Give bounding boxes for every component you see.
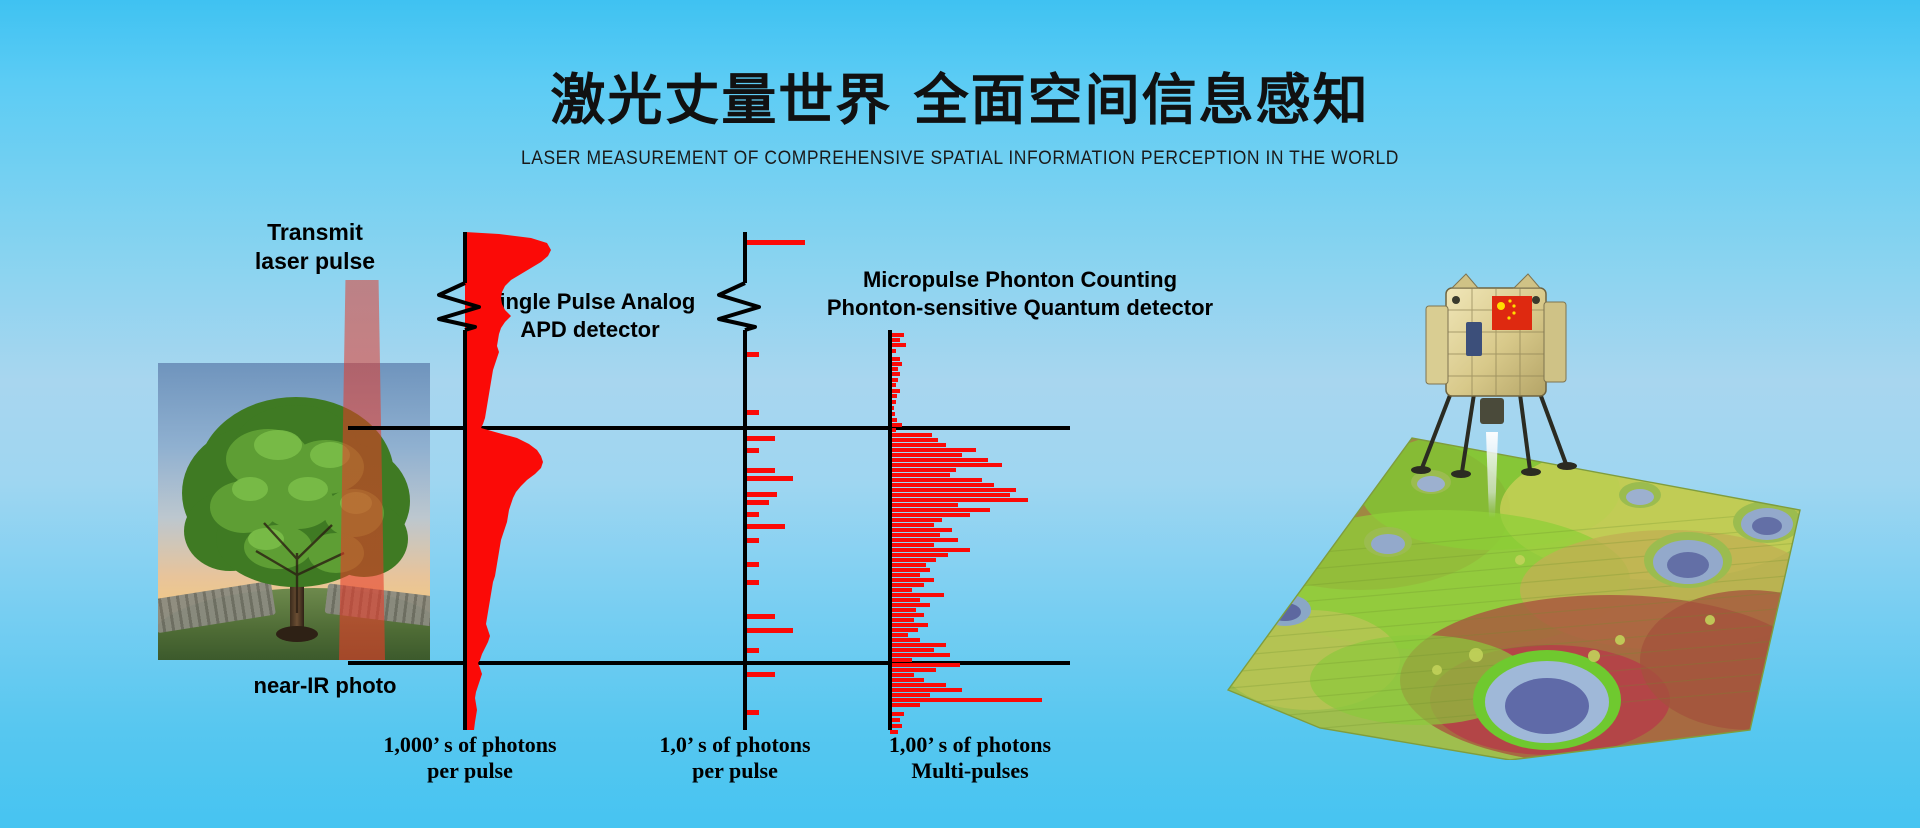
- photon-bar: [745, 562, 759, 567]
- photon-bar: [890, 638, 920, 642]
- photon-bar: [890, 443, 946, 447]
- chinese-flag-icon: [1492, 296, 1532, 330]
- lander-panel-left: [1426, 306, 1448, 384]
- poster-canvas: 激光丈量世界 全面空间信息感知 LASER MEASUREMENT OF COM…: [0, 0, 1920, 828]
- photon-bar: [890, 333, 904, 337]
- photon-bar: [890, 698, 1042, 702]
- photon-bar: [890, 603, 930, 607]
- photon-bar: [890, 493, 1010, 497]
- crater: [1473, 650, 1621, 750]
- photon-bar: [890, 703, 920, 707]
- photon-bar: [890, 653, 950, 657]
- photon-bar: [890, 628, 918, 632]
- panel3-photon-bars: [890, 333, 1042, 734]
- photon-bar: [890, 663, 960, 667]
- photon-bar: [890, 593, 944, 597]
- photon-bar: [890, 468, 956, 472]
- photon-bar: [890, 573, 920, 577]
- photon-bar: [745, 476, 793, 481]
- photon-bar: [890, 578, 934, 582]
- photon-bar: [890, 583, 924, 587]
- photon-bar: [890, 712, 904, 716]
- photon-bar: [890, 548, 970, 552]
- photon-bar: [890, 478, 982, 482]
- photon-bar: [890, 453, 962, 457]
- photon-bar: [890, 648, 934, 652]
- photon-bar: [890, 598, 920, 602]
- photon-bar: [890, 508, 990, 512]
- crater: [1619, 482, 1661, 508]
- photon-bar: [890, 518, 942, 522]
- photon-bar: [745, 352, 759, 357]
- photon-bar: [745, 580, 759, 585]
- photon-bar: [890, 558, 936, 562]
- panel2-photon-bars: [745, 240, 805, 715]
- photon-bar: [890, 618, 914, 622]
- crater: [1733, 501, 1801, 543]
- photon-bar: [745, 240, 805, 245]
- photon-bar: [745, 672, 775, 677]
- photon-bar: [890, 473, 950, 477]
- photon-bar: [745, 538, 759, 543]
- photon-bar: [890, 668, 936, 672]
- photon-bar: [890, 343, 906, 347]
- photon-bar: [890, 623, 928, 627]
- lunar-terrain-scene: [1190, 260, 1830, 760]
- photon-bar: [890, 433, 932, 437]
- photon-bar: [890, 438, 938, 442]
- lander-instrument: [1466, 322, 1482, 356]
- photon-bar: [890, 538, 958, 542]
- photon-bar: [890, 688, 962, 692]
- photon-bar: [890, 613, 924, 617]
- photon-bar: [745, 710, 759, 715]
- photon-bar: [745, 492, 777, 497]
- photon-bar: [890, 503, 958, 507]
- photon-bar: [890, 448, 976, 452]
- terrain-mesh: [1210, 430, 1830, 760]
- photon-bar: [890, 553, 948, 557]
- photon-bar: [890, 633, 908, 637]
- axis-break-zigzag: [719, 283, 759, 330]
- photon-bar: [745, 648, 759, 653]
- photon-bar: [745, 524, 785, 529]
- photon-bar: [890, 693, 930, 697]
- photon-bar: [890, 488, 1016, 492]
- crater: [1364, 527, 1412, 557]
- photon-bar: [745, 614, 775, 619]
- crater: [1644, 532, 1732, 588]
- photon-bar: [890, 513, 970, 517]
- photon-bar: [890, 673, 914, 677]
- photon-bar: [890, 463, 1002, 467]
- photon-bar: [890, 678, 924, 682]
- photon-bar: [890, 608, 916, 612]
- lander-panel-right: [1544, 302, 1566, 382]
- photon-bar: [890, 543, 934, 547]
- photon-bar: [890, 683, 946, 687]
- photon-bar: [745, 468, 775, 473]
- crater: [1259, 594, 1311, 626]
- photon-bar: [890, 643, 946, 647]
- photon-bar: [890, 588, 912, 592]
- photon-bar: [890, 568, 930, 572]
- photon-bar: [745, 436, 775, 441]
- photon-bar: [745, 500, 769, 505]
- photon-bar: [745, 410, 759, 415]
- photon-bar: [890, 498, 1028, 502]
- photon-bar: [745, 448, 759, 453]
- photon-bar: [890, 533, 940, 537]
- lander-engine: [1480, 398, 1504, 424]
- photon-bar: [890, 523, 934, 527]
- photon-bar: [745, 512, 759, 517]
- photon-bar: [890, 563, 926, 567]
- photon-bar: [890, 528, 952, 532]
- photon-bar: [890, 458, 988, 462]
- photon-bar: [890, 658, 912, 662]
- photon-bar: [890, 730, 898, 734]
- photon-bar: [890, 483, 994, 487]
- photon-bar: [745, 628, 793, 633]
